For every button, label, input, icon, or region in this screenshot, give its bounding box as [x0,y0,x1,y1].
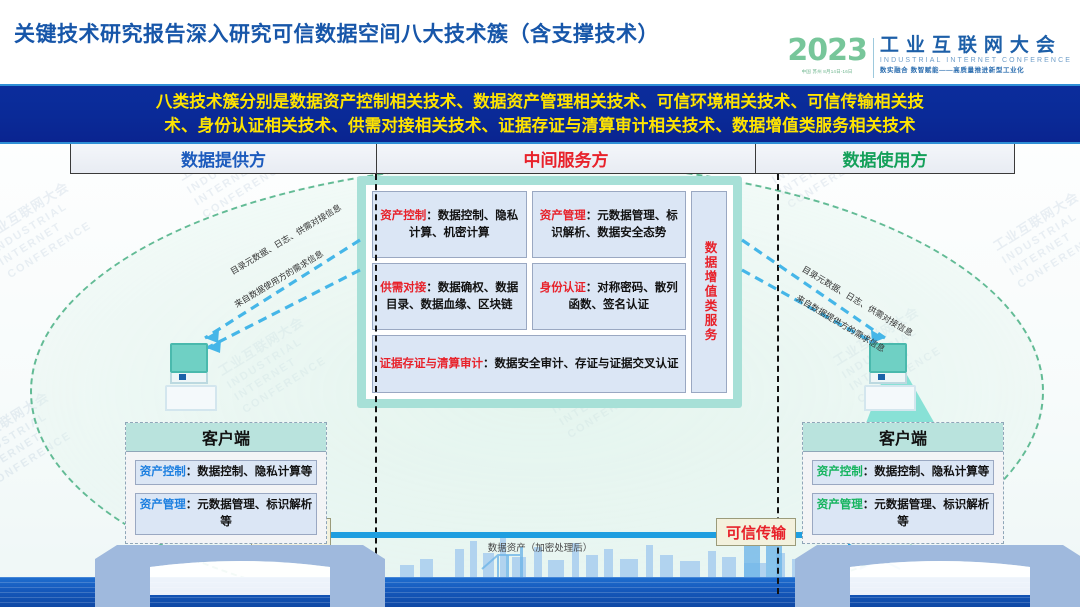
client-items-left: 资产控制：数据控制、隐私计算等 资产管理：元数据管理、标识解析等 [126,452,326,543]
client-item-body: 元数据管理、标识解析等 [874,499,989,528]
logo-year: 2023 [787,36,867,66]
client-item-body: 元数据管理、标识解析等 [197,499,312,528]
logo-name-en: INDUSTRIAL INTERNET CONFERENCE [880,56,1072,67]
conference-logo: 2023 中国 苏州 8月14日-16日 工业互联网大会 INDUSTRIAL … [787,36,1072,80]
device-indicator [179,374,186,380]
technology-cluster-grid: 资产控制：数据控制、隐私计算、机密计算 资产管理：元数据管理、标识解析、数据安全… [366,185,733,399]
logo-tagline: 数实融合 数智赋能——高质量推进新型工业化 [880,66,1072,75]
tech-box-sep: ： [483,358,495,370]
tech-box-sep: ： [426,210,438,222]
client-box-right: 客户端 资产控制：数据控制、隐私计算等 资产管理：元数据管理、标识解析等 [802,422,1004,544]
client-box-left: 客户端 资产控制：数据控制、隐私计算等 资产管理：元数据管理、标识解析等 [125,422,327,544]
page-title: 关键技术研究报告深入研究可信数据空间八大技术簇（含支撑技术） [14,18,659,48]
tech-box-key: 身份认证 [540,282,586,294]
logo-date: 中国 苏州 8月14日-16日 [802,69,853,75]
tech-box-asset-management[interactable]: 资产管理：元数据管理、标识解析、数据安全态势 [532,191,687,258]
device-body [864,385,916,411]
client-item-sep: ： [863,499,875,511]
client-item-body: 数据控制、隐私计算等 [197,466,312,478]
lane-header-intermediary: 中间服务方 [376,142,755,174]
device-base [170,373,208,384]
logo-year-block: 2023 中国 苏州 8月14日-16日 [787,36,873,75]
bridge-right [795,539,1080,607]
tech-box-key: 供需对接 [380,282,426,294]
tech-box-key: 资产控制 [380,210,426,222]
tech-box-identity-authentication[interactable]: 身份认证：对称密码、散列函数、签名认证 [532,263,687,330]
client-item-asset-control-right[interactable]: 资产控制：数据控制、隐私计算等 [812,460,994,485]
lane-separator-left [375,174,377,594]
summary-banner-text: 八类技术簇分别是数据资产控制相关技术、数据资产管理相关技术、可信环境相关技术、可… [14,90,1066,138]
tech-box-sep: ： [586,210,598,222]
device-base [869,373,907,384]
device-screen [170,343,208,373]
technology-row-2: 供需对接：数据确权、数据目录、数据血缘、区块链 身份认证：对称密码、散列函数、签… [372,263,686,330]
bridge-left [95,539,385,607]
client-title-left: 客户端 [126,423,326,452]
tech-box-sep: ： [426,282,438,294]
tech-box-body: 数据安全审计、存证与证据交叉认证 [495,358,679,370]
trusted-transmission-badge-right[interactable]: 可信传输 [716,518,796,546]
summary-banner-line-1: 八类技术簇分别是数据资产控制相关技术、数据资产管理相关技术、可信环境相关技术、可… [14,90,1066,114]
tech-box-evidence-and-settlement-audit[interactable]: 证据存证与清算审计：数据安全审计、存证与证据交叉认证 [372,335,686,393]
lane-header-row: 数据提供方 中间服务方 数据使用方 [70,142,1015,174]
client-items-right: 资产控制：数据控制、隐私计算等 资产管理：元数据管理、标识解析等 [803,452,1003,543]
lane-header-data-provider: 数据提供方 [70,142,376,174]
tech-box-key: 资产管理 [540,210,586,222]
watermark-tile: 工业互联网大会 INDUSTRIAL INTERNET CONFERENCE [990,188,1080,293]
summary-banner-line-2: 术、身份认证相关技术、供需对接相关技术、证据存证与清算审计相关技术、数据增值类服… [14,114,1066,138]
technology-row-1: 资产控制：数据控制、隐私计算、机密计算 资产管理：元数据管理、标识解析、数据安全… [372,191,686,258]
slide-header: 关键技术研究报告深入研究可信数据空间八大技术簇（含支撑技术） 2023 中国 苏… [0,0,1080,84]
client-item-sep: ： [186,466,198,478]
client-item-key: 资产控制 [817,466,863,478]
client-item-sep: ： [186,499,198,511]
client-item-sep: ： [863,466,875,478]
data-provider-device-icon [170,343,217,411]
technology-boxes: 资产控制：数据控制、隐私计算、机密计算 资产管理：元数据管理、标识解析、数据安全… [372,191,686,393]
device-body [165,385,217,411]
client-item-asset-control-left[interactable]: 资产控制：数据控制、隐私计算等 [135,460,317,485]
diagram-canvas: 工业互联网大会 INDUSTRIAL INTERNET CONFERENCE 工… [0,140,1080,607]
tech-box-key: 证据存证与清算审计 [380,358,484,370]
client-item-asset-management-left[interactable]: 资产管理：元数据管理、标识解析等 [135,493,317,535]
logo-name-cn: 工业互联网大会 [880,36,1072,56]
tech-box-asset-control[interactable]: 资产控制：数据控制、隐私计算、机密计算 [372,191,527,258]
client-item-asset-management-right[interactable]: 资产管理：元数据管理、标识解析等 [812,493,994,535]
tech-box-sep: ： [586,282,598,294]
device-indicator [878,374,885,380]
technology-row-3: 证据存证与清算审计：数据安全审计、存证与证据交叉认证 [372,335,686,393]
client-item-key: 资产管理 [817,499,863,511]
tech-box-value-added-service[interactable]: 数据增值类服务 [691,191,727,393]
summary-banner: 八类技术簇分别是数据资产控制相关技术、数据资产管理相关技术、可信环境相关技术、可… [0,84,1080,144]
client-item-body: 数据控制、隐私计算等 [874,466,989,478]
logo-divider [873,38,874,78]
watermark-tile: 工业互联网大会 INDUSTRIAL INTERNET CONFERENCE [0,178,96,283]
tech-box-supply-demand-matching[interactable]: 供需对接：数据确权、数据目录、数据血缘、区块链 [372,263,527,330]
client-title-right: 客户端 [803,423,1003,452]
logo-name-block: 工业互联网大会 INDUSTRIAL INTERNET CONFERENCE 数… [880,36,1072,76]
lane-header-data-consumer: 数据使用方 [755,142,1015,174]
client-item-key: 资产管理 [140,499,186,511]
client-item-key: 资产控制 [140,466,186,478]
